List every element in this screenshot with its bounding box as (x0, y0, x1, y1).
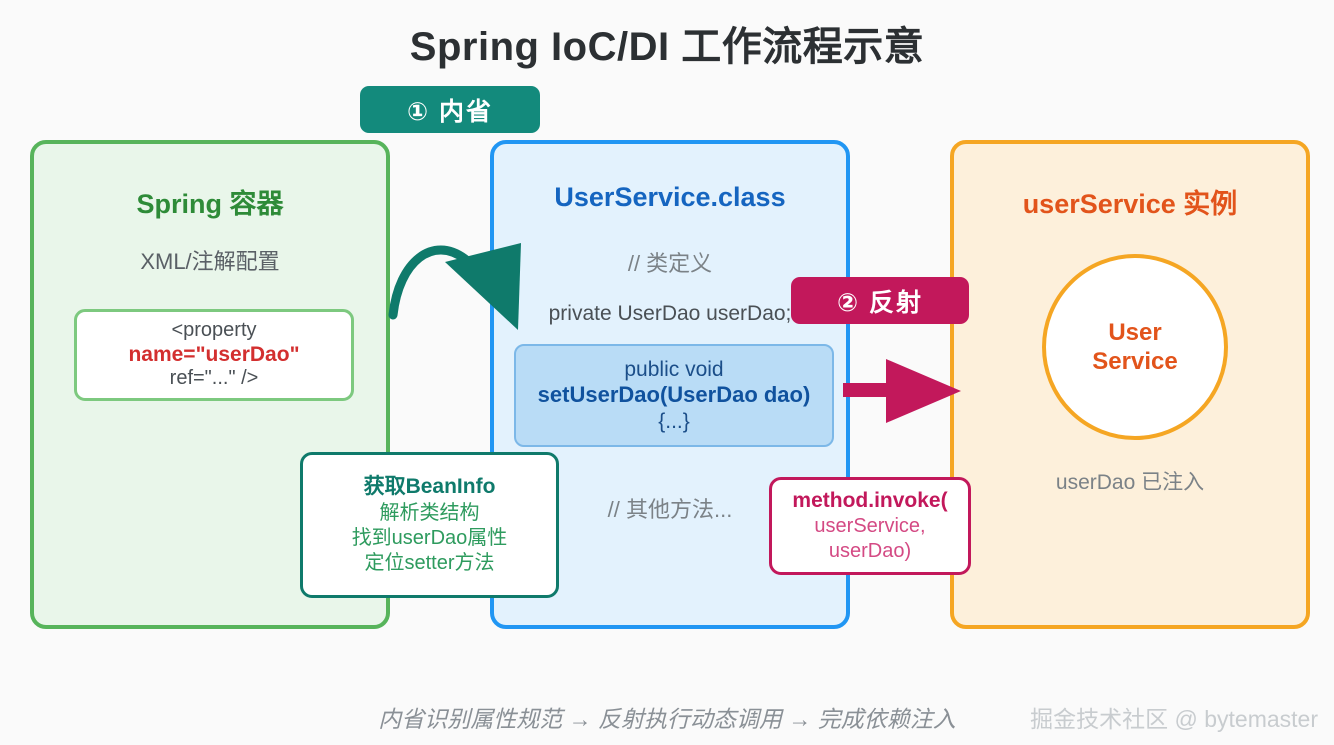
property-code-line-2: name="userDao" (128, 343, 299, 368)
setter-code-line-3: {...} (658, 409, 690, 434)
panel-spring-container-title: Spring 容器 (34, 182, 386, 221)
callout-beaninfo-line-3: 定位setter方法 (364, 551, 494, 576)
step-badge-reflection: ② 反射 (791, 277, 969, 324)
callout-beaninfo-line-1: 解析类结构 (380, 501, 480, 526)
property-config-card: <property name="userDao" ref="..." /> (74, 309, 354, 401)
callout-method-invoke-line-1: userService, (814, 514, 925, 539)
panel-userservice-class-title: UserService.class (494, 182, 846, 213)
panel-userservice-instance-title: userService 实例 (954, 182, 1306, 221)
step-badge-introspection: ① 内省 (360, 86, 540, 133)
setter-code-line-2: setUserDao(UserDao dao) (538, 382, 811, 408)
callout-method-invoke: method.invoke( userService, userDao) (769, 477, 971, 575)
class-definition-comment: // 类定义 (494, 246, 846, 278)
setter-code-line-1: public void (624, 357, 723, 382)
callout-beaninfo-line-2: 找到userDao属性 (352, 526, 508, 551)
callout-beaninfo: 获取BeanInfo 解析类结构 找到userDao属性 定位setter方法 (300, 452, 559, 598)
userdao-injected-note: userDao 已注入 (954, 466, 1306, 496)
callout-method-invoke-title: method.invoke( (792, 488, 947, 514)
property-code-line-3: ref="..." /> (170, 367, 259, 391)
watermark: 掘金技术社区 @ bytemaster (1030, 700, 1318, 734)
setter-method-card: public void setUserDao(UserDao dao) {...… (514, 344, 834, 447)
userservice-bean-circle: User Service (1042, 254, 1228, 440)
property-code-line-1: <property (171, 319, 256, 343)
callout-method-invoke-line-2: userDao) (829, 539, 911, 564)
callout-beaninfo-title: 获取BeanInfo (364, 474, 496, 500)
page-title: Spring IoC/DI 工作流程示意 (0, 14, 1334, 72)
panel-spring-container-subtitle: XML/注解配置 (34, 244, 386, 276)
bean-circle-line-2: Service (1092, 347, 1177, 376)
panel-userservice-instance: userService 实例 User Service userDao 已注入 (950, 140, 1310, 629)
bean-circle-line-1: User (1108, 318, 1161, 347)
